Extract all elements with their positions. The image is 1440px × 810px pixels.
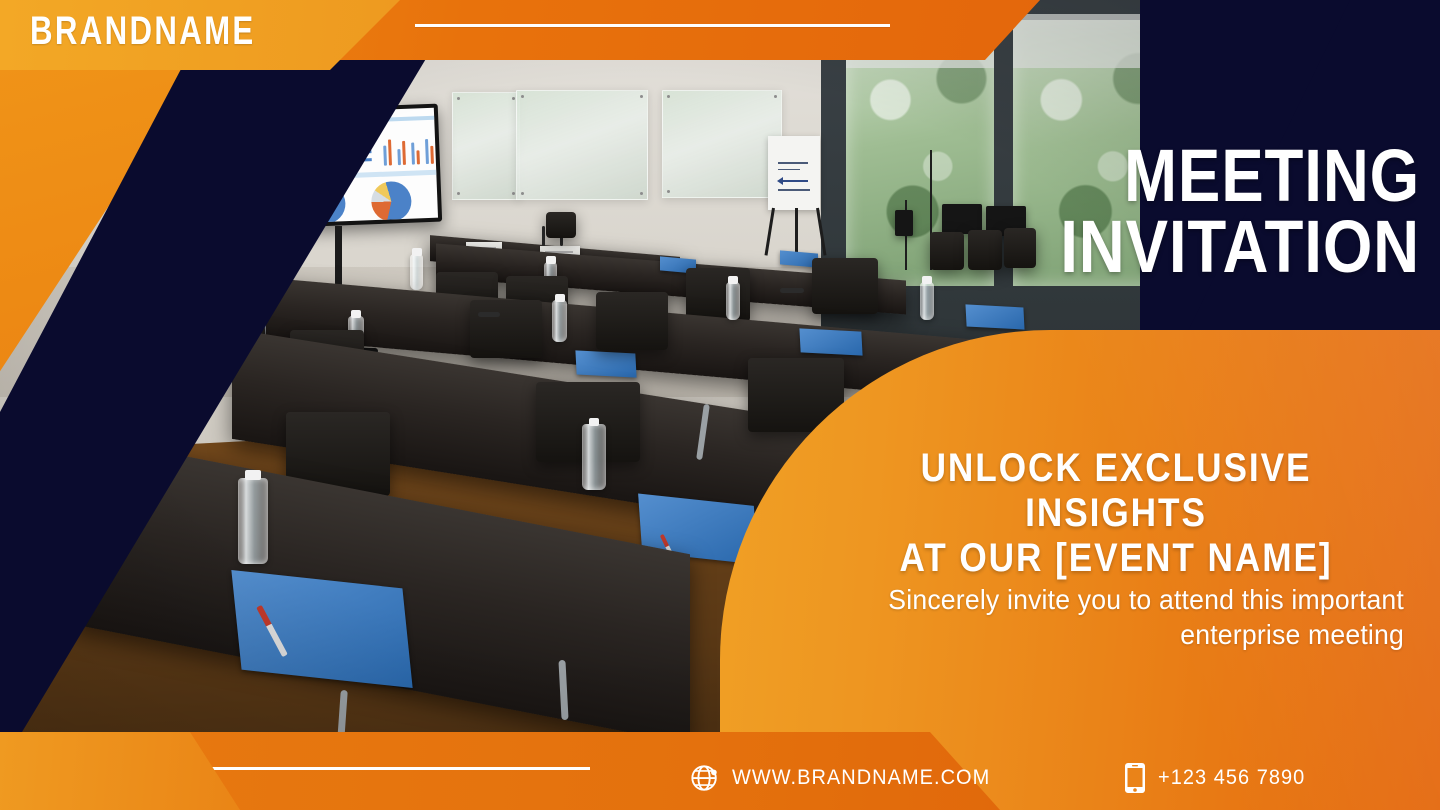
subtitle-line-1: Sincerely invite you to attend this impo… — [888, 584, 1404, 615]
headline-line-1: UNLOCK EXCLUSIVE INSIGHTS — [921, 446, 1312, 535]
phone-text: +123 456 7890 — [1158, 766, 1305, 790]
subtitle: Sincerely invite you to attend this impo… — [834, 582, 1404, 653]
meeting-invitation-poster: BRANDNAME MEETING INVITATION UNLOCK EXCL… — [0, 0, 1440, 810]
footer-contact-bar: WWW.BRANDNAME.COM +123 456 7890 — [690, 762, 1430, 794]
subtitle-line-2: enterprise meeting — [834, 617, 1404, 652]
phone-contact[interactable]: +123 456 7890 — [1124, 762, 1313, 794]
top-header-rule — [415, 24, 890, 27]
headline-line-2: AT OUR [EVENT NAME] — [852, 536, 1380, 581]
page-title: MEETING INVITATION — [938, 140, 1420, 282]
website-contact[interactable]: WWW.BRANDNAME.COM — [690, 763, 1004, 793]
website-text: WWW.BRANDNAME.COM — [732, 766, 990, 790]
globe-icon — [690, 763, 720, 793]
mobile-phone-icon — [1124, 762, 1146, 794]
title-line-2: INVITATION — [938, 211, 1420, 282]
headline: UNLOCK EXCLUSIVE INSIGHTS AT OUR [EVENT … — [852, 446, 1380, 580]
brand-name: BRANDNAME — [30, 9, 256, 54]
